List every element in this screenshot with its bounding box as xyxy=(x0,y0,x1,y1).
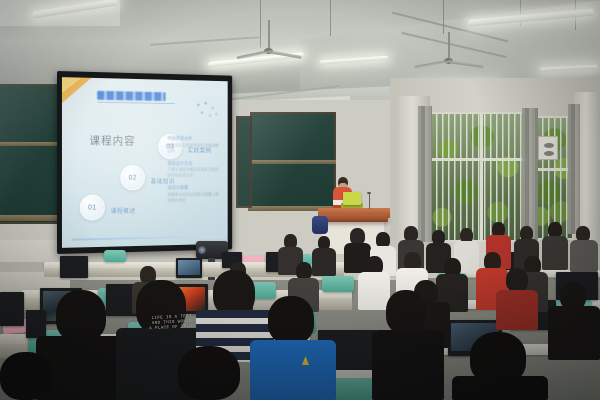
student-fg-6-head xyxy=(0,352,52,400)
slide-body-detail-1: 结合实际工程案例进行详细讲解说明 xyxy=(167,142,220,154)
student-fg-8-body xyxy=(452,376,548,400)
wall-speaker xyxy=(538,136,558,160)
window-mullion-v-left xyxy=(480,114,483,242)
student-fg-1-head xyxy=(56,290,106,342)
laptop-5-lid[interactable] xyxy=(60,256,88,278)
student-right-fg-2-head xyxy=(506,268,528,292)
curtain-center xyxy=(522,108,538,240)
laptop-6-screen xyxy=(178,260,200,275)
chair-11[interactable] xyxy=(104,250,126,262)
student-fg-4-head xyxy=(268,296,314,344)
slide-step-01-number: 01 xyxy=(80,195,105,221)
slide-body-detail-3: 掌握基本的测试流程与部署上线的操作规范 xyxy=(167,191,220,203)
ceiling-fan-rod-1 xyxy=(268,20,270,50)
slide-dot-decoration xyxy=(195,102,219,120)
right-chalkboard xyxy=(236,116,252,208)
student-fg-5-head xyxy=(178,346,240,400)
ceiling-hanger-4 xyxy=(520,0,521,26)
slide-header-underline xyxy=(97,102,175,104)
projection-screen-surface: 课程内容 01 课程概述 02 基础知识 03 实践案例 项目需求分析 结合实际… xyxy=(62,77,228,248)
podium-microphone-stem xyxy=(369,194,370,209)
student-fg-7-body xyxy=(372,330,444,400)
student-fg-4-body xyxy=(250,340,336,400)
slide-header-band xyxy=(97,91,165,101)
projector-lens xyxy=(198,246,206,254)
ceiling-hanger-1 xyxy=(260,0,261,48)
slide-footer-rule xyxy=(72,235,219,240)
slide-step-02-number: 02 xyxy=(120,165,145,191)
window-left xyxy=(428,112,532,242)
ceiling-hanger-2 xyxy=(330,0,331,36)
student-back-11-body xyxy=(312,248,336,276)
podium-microphone-head xyxy=(367,192,371,194)
slide-body-item-3: 测试与部署 掌握基本的测试流程与部署上线的操作规范 xyxy=(167,185,220,203)
student-mid-1-body xyxy=(358,272,390,310)
curtain-left xyxy=(418,106,432,242)
ceiling-fan-rod-2 xyxy=(448,32,450,60)
blue-stool xyxy=(312,216,328,234)
slide-body-detail-2: 了解主流设计模式及其在工程实践中的应用方式 xyxy=(167,167,220,179)
student-back-8-body xyxy=(542,236,568,270)
podium xyxy=(320,214,388,222)
slide-step-01-label: 课程概述 xyxy=(111,206,136,215)
classroom-photo: 课程内容 01 课程概述 02 基础知识 03 实践案例 项目需求分析 结合实际… xyxy=(0,0,600,400)
student-right-fg-1-body xyxy=(548,306,600,360)
projection-screen: 课程内容 01 课程概述 02 基础知识 03 实践案例 项目需求分析 结合实际… xyxy=(57,71,232,254)
slide-corner-accent-inner xyxy=(62,77,82,93)
student-right-fg-2-body xyxy=(496,290,538,330)
laptop-4-lid[interactable] xyxy=(0,292,24,326)
laptop-14-lid[interactable] xyxy=(26,310,46,338)
student-back-9-body xyxy=(570,240,598,272)
center-chalkboard-sheen xyxy=(250,112,336,210)
ceiling-hanger-3 xyxy=(443,0,444,34)
slide-title: 课程内容 xyxy=(89,132,135,148)
chair-7[interactable] xyxy=(322,276,354,292)
slide-body-list: 项目需求分析 结合实际工程案例进行详细讲解说明 系统设计方法 了解主流设计模式及… xyxy=(167,136,220,210)
slide-body-item-1: 项目需求分析 结合实际工程案例进行详细讲解说明 xyxy=(167,136,220,154)
student-fg-7-head xyxy=(386,290,426,334)
curtain-right xyxy=(568,104,580,234)
slide-body-item-2: 系统设计方法 了解主流设计模式及其在工程实践中的应用方式 xyxy=(167,161,220,179)
presenter-laptop xyxy=(343,192,361,205)
